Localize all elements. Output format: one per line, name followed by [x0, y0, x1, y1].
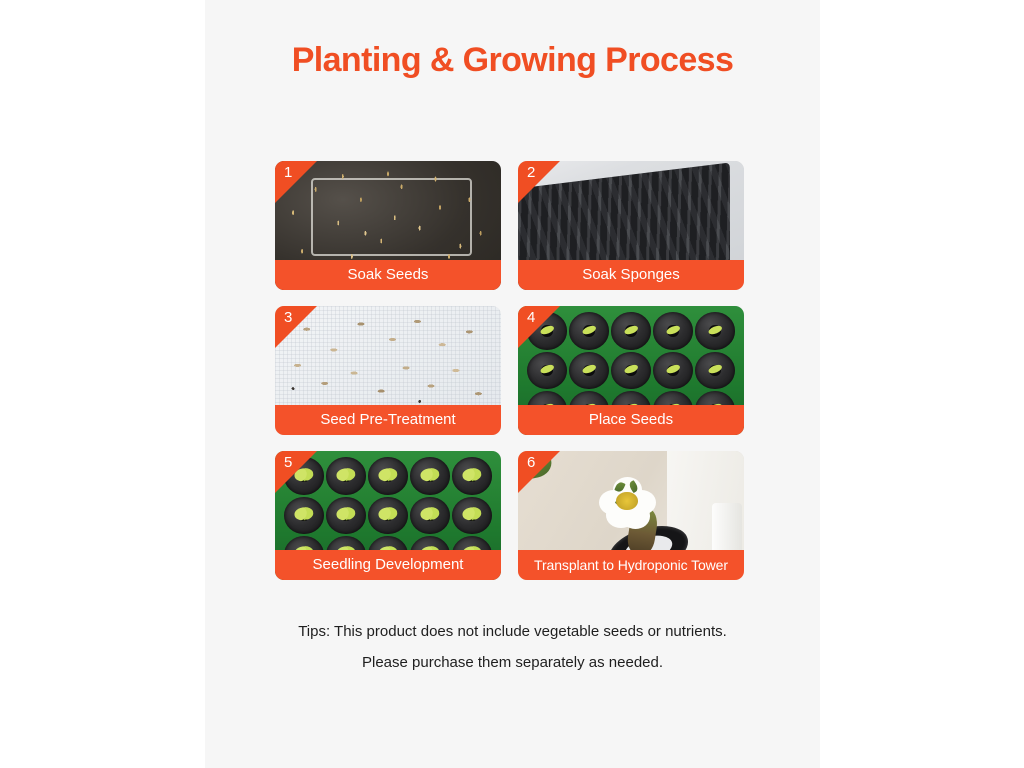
seedling-sprout	[420, 506, 441, 522]
process-step-card[interactable]: 2 Soak Sponges	[518, 161, 744, 290]
step-number-label: 4	[527, 308, 535, 328]
process-step-card[interactable]: 3 Seed Pre-Treatment	[275, 306, 501, 435]
sponge-plug	[653, 312, 693, 349]
step-title-label: Place Seeds	[518, 405, 744, 435]
sponge-plug	[611, 352, 651, 389]
sponge-plug	[368, 457, 408, 494]
step-title-label: Transplant to Hydroponic Tower	[518, 550, 744, 580]
seed-sprout	[707, 324, 722, 335]
step-number-label: 5	[284, 453, 292, 473]
sponge-plug	[695, 352, 735, 389]
step-title-label: Seedling Development	[275, 550, 501, 580]
seed-sprout	[623, 363, 638, 374]
flower-center	[616, 492, 637, 510]
step-title-label: Soak Sponges	[518, 260, 744, 290]
seed-sprout	[581, 324, 596, 335]
step-number-badge	[275, 306, 317, 348]
step-number-badge	[275, 161, 317, 203]
step-title-label: Soak Seeds	[275, 260, 501, 290]
sponge-plug	[326, 457, 366, 494]
seed-sprout	[539, 363, 554, 374]
step-number-label: 1	[284, 163, 292, 183]
sponge-plug	[569, 312, 609, 349]
seedling-sprout	[378, 467, 399, 483]
process-step-card[interactable]: 4 Place Seeds	[518, 306, 744, 435]
sponge-plug	[452, 497, 492, 534]
seed-sprout	[707, 363, 722, 374]
sponge-plug	[611, 312, 651, 349]
sponge-plug	[695, 312, 735, 349]
sponge-plug	[653, 352, 693, 389]
content-panel: Planting & Growing Process 1 Soak Seeds …	[205, 0, 820, 768]
step-number-label: 2	[527, 163, 535, 183]
sponge-plug	[326, 497, 366, 534]
seed-sprout	[665, 363, 680, 374]
process-step-card[interactable]: 5 Seedling Development	[275, 451, 501, 580]
process-step-card[interactable]: 1 Soak Seeds	[275, 161, 501, 290]
seedling-sprout	[462, 506, 483, 522]
sponge-plug	[452, 457, 492, 494]
seed-sprout	[623, 324, 638, 335]
seedling-sprout	[420, 467, 441, 483]
process-steps-grid: 1 Soak Seeds 2 Soak Sponges 3 Seed Pre-T…	[275, 161, 751, 580]
sponge-plug	[527, 352, 567, 389]
page-root: Planting & Growing Process 1 Soak Seeds …	[0, 0, 1024, 768]
sponge-plug	[368, 497, 408, 534]
step-number-label: 3	[284, 308, 292, 328]
step-number-badge	[518, 306, 560, 348]
strawberry-flower	[599, 477, 656, 526]
sponge-plug	[410, 457, 450, 494]
seed-sprout	[665, 324, 680, 335]
step-number-badge	[275, 451, 317, 493]
sponge-plug	[410, 497, 450, 534]
step-number-label: 6	[527, 453, 535, 473]
step-number-badge	[518, 451, 560, 493]
seedling-sprout	[294, 506, 315, 522]
seed-sprout	[581, 363, 596, 374]
sponge-plug	[284, 497, 324, 534]
step-title-label: Seed Pre-Treatment	[275, 405, 501, 435]
tips-line-1: Tips: This product does not include vege…	[205, 618, 820, 646]
seedling-sprout	[336, 506, 357, 522]
tips-note: Tips: This product does not include vege…	[205, 618, 820, 677]
step-number-badge	[518, 161, 560, 203]
seedling-sprout	[462, 467, 483, 483]
seedling-sprout	[336, 467, 357, 483]
process-step-card[interactable]: 6 Transplant to Hydroponic Tower	[518, 451, 744, 580]
page-title: Planting & Growing Process	[205, 38, 820, 82]
seedling-sprout	[378, 506, 399, 522]
tips-line-2: Please purchase them separately as neede…	[205, 649, 820, 677]
sponge-plug	[569, 352, 609, 389]
